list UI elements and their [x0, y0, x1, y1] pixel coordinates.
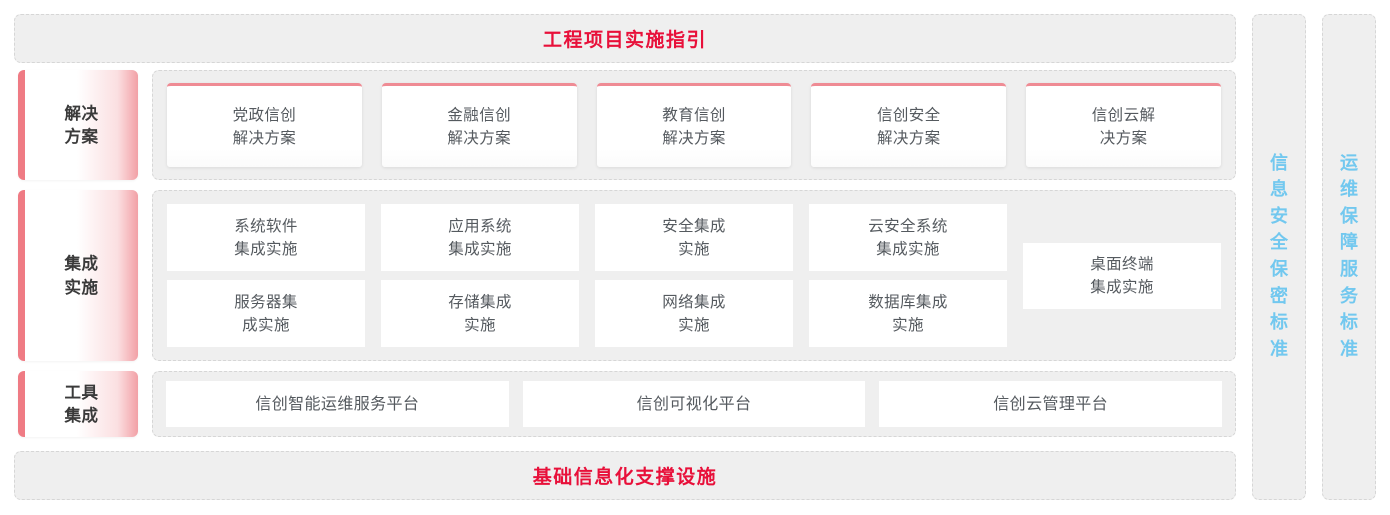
tools-card-grid: 信创智能运维服务平台 信创可视化平台 信创云管理平台 [166, 381, 1222, 427]
integration-card-network-text: 网络集成 实施 [662, 291, 726, 336]
solution-card-cloud-text: 信创云解 决方案 [1092, 104, 1156, 149]
solution-card-finance-line1: 金融信创 [447, 104, 511, 126]
row-panel-solution: 党政信创 解决方案 金融信创 解决方案 教育信创 解决方案 信创安全 [152, 70, 1236, 180]
solution-card-govt[interactable]: 党政信创 解决方案 [167, 83, 362, 167]
integration-card-security-text: 安全集成 实施 [662, 215, 726, 260]
integration-card-network-line2: 实施 [662, 314, 726, 336]
integration-card-system-software-line2: 集成实施 [234, 238, 298, 260]
row-label-tools: 工具 集成 [18, 371, 138, 437]
integration-card-cloud-security-text: 云安全系统 集成实施 [868, 215, 948, 260]
integration-column-1: 系统软件 集成实施 服务器集 成实施 [167, 204, 365, 347]
solution-card-finance[interactable]: 金融信创 解决方案 [382, 83, 577, 167]
integration-card-database-line1: 数据库集成 [868, 291, 948, 313]
solution-card-education-line1: 教育信创 [662, 104, 726, 126]
integration-card-server-line1: 服务器集 [234, 291, 298, 313]
row-label-integration-text: 集成 实施 [65, 252, 99, 299]
integration-card-storage-line2: 实施 [448, 314, 512, 336]
standard-panel-ops-service-text: 运维保障服务标准 [1338, 151, 1360, 364]
integration-card-storage-line1: 存储集成 [448, 291, 512, 313]
integration-card-database[interactable]: 数据库集成 实施 [809, 280, 1007, 347]
solution-card-security-line1: 信创安全 [877, 104, 941, 126]
row-label-solution-text: 解决 方案 [65, 102, 99, 149]
integration-card-cloud-security-line2: 集成实施 [868, 238, 948, 260]
integration-card-cloud-security[interactable]: 云安全系统 集成实施 [809, 204, 1007, 271]
bottom-banner: 基础信息化支撑设施 [14, 451, 1236, 500]
tool-card-aiops-platform[interactable]: 信创智能运维服务平台 [166, 381, 509, 427]
solution-card-govt-text: 党政信创 解决方案 [233, 104, 297, 149]
integration-card-server[interactable]: 服务器集 成实施 [167, 280, 365, 347]
integration-card-server-line2: 成实施 [234, 314, 298, 336]
integration-card-application-system-line1: 应用系统 [448, 215, 512, 237]
solution-card-cloud-line2: 决方案 [1092, 127, 1156, 149]
row-label-integration: 集成 实施 [18, 190, 138, 361]
solution-card-cloud-line1: 信创云解 [1092, 104, 1156, 126]
integration-card-storage[interactable]: 存储集成 实施 [381, 280, 579, 347]
integration-card-network-line1: 网络集成 [662, 291, 726, 313]
integration-card-desktop-terminal-line2: 集成实施 [1090, 276, 1154, 298]
solution-card-cloud[interactable]: 信创云解 决方案 [1026, 83, 1221, 167]
row-label-tools-line2: 集成 [65, 404, 99, 427]
solution-card-education-line2: 解决方案 [662, 127, 726, 149]
solution-card-education[interactable]: 教育信创 解决方案 [597, 83, 792, 167]
integration-card-system-software[interactable]: 系统软件 集成实施 [167, 204, 365, 271]
integration-card-system-software-line1: 系统软件 [234, 215, 298, 237]
solution-card-security-line2: 解决方案 [877, 127, 941, 149]
integration-column-2: 应用系统 集成实施 存储集成 实施 [381, 204, 579, 347]
integration-card-grid: 系统软件 集成实施 服务器集 成实施 应用系统 集成实施 [167, 204, 1221, 347]
row-label-tools-line1: 工具 [65, 381, 99, 404]
top-banner: 工程项目实施指引 [14, 14, 1236, 63]
integration-card-database-text: 数据库集成 实施 [868, 291, 948, 336]
row-label-tools-text: 工具 集成 [65, 381, 99, 428]
tool-card-aiops-platform-text: 信创智能运维服务平台 [255, 392, 419, 415]
integration-card-desktop-terminal-line1: 桌面终端 [1090, 253, 1154, 275]
solution-card-govt-line1: 党政信创 [233, 104, 297, 126]
row-label-solution-line2: 方案 [65, 125, 99, 148]
integration-card-desktop-terminal[interactable]: 桌面终端 集成实施 [1023, 243, 1221, 309]
integration-card-security-line1: 安全集成 [662, 215, 726, 237]
solution-card-security[interactable]: 信创安全 解决方案 [811, 83, 1006, 167]
integration-column-4: 云安全系统 集成实施 数据库集成 实施 [809, 204, 1007, 347]
integration-card-application-system-text: 应用系统 集成实施 [448, 215, 512, 260]
solution-card-finance-text: 金融信创 解决方案 [447, 104, 511, 149]
row-label-integration-line2: 实施 [65, 276, 99, 299]
tool-card-visualization-platform-text: 信创可视化平台 [637, 392, 752, 415]
integration-card-server-text: 服务器集 成实施 [234, 291, 298, 336]
tool-card-cloud-management-platform[interactable]: 信创云管理平台 [879, 381, 1222, 427]
tool-card-visualization-platform[interactable]: 信创可视化平台 [523, 381, 866, 427]
row-label-solution-line1: 解决 [65, 102, 99, 125]
integration-card-application-system-line2: 集成实施 [448, 238, 512, 260]
top-banner-title: 工程项目实施指引 [543, 25, 707, 52]
integration-column-3: 安全集成 实施 网络集成 实施 [595, 204, 793, 347]
integration-card-system-software-text: 系统软件 集成实施 [234, 215, 298, 260]
standard-panel-ops-service: 运维保障服务标准 [1322, 14, 1376, 500]
row-label-solution: 解决 方案 [18, 70, 138, 180]
integration-card-application-system[interactable]: 应用系统 集成实施 [381, 204, 579, 271]
row-panel-integration: 系统软件 集成实施 服务器集 成实施 应用系统 集成实施 [152, 190, 1236, 361]
solution-card-grid: 党政信创 解决方案 金融信创 解决方案 教育信创 解决方案 信创安全 [167, 83, 1221, 167]
solution-card-finance-line2: 解决方案 [447, 127, 511, 149]
integration-card-desktop-terminal-text: 桌面终端 集成实施 [1090, 253, 1154, 298]
integration-column-5: 桌面终端 集成实施 [1023, 204, 1221, 347]
row-panel-tools: 信创智能运维服务平台 信创可视化平台 信创云管理平台 [152, 371, 1236, 437]
integration-card-database-line2: 实施 [868, 314, 948, 336]
integration-card-cloud-security-line1: 云安全系统 [868, 215, 948, 237]
integration-card-security[interactable]: 安全集成 实施 [595, 204, 793, 271]
integration-card-network[interactable]: 网络集成 实施 [595, 280, 793, 347]
integration-card-storage-text: 存储集成 实施 [448, 291, 512, 336]
tool-card-cloud-management-platform-text: 信创云管理平台 [993, 392, 1108, 415]
diagram-root: 工程项目实施指引 解决 方案 党政信创 解决方案 金融信创 解决方案 [0, 0, 1390, 515]
solution-card-security-text: 信创安全 解决方案 [877, 104, 941, 149]
standard-panel-information-security: 信息安全保密标准 [1252, 14, 1306, 500]
standard-panel-information-security-text: 信息安全保密标准 [1268, 151, 1290, 364]
row-label-integration-line1: 集成 [65, 252, 99, 275]
integration-card-security-line2: 实施 [662, 238, 726, 260]
bottom-banner-title: 基础信息化支撑设施 [533, 462, 718, 489]
solution-card-govt-line2: 解决方案 [233, 127, 297, 149]
solution-card-education-text: 教育信创 解决方案 [662, 104, 726, 149]
